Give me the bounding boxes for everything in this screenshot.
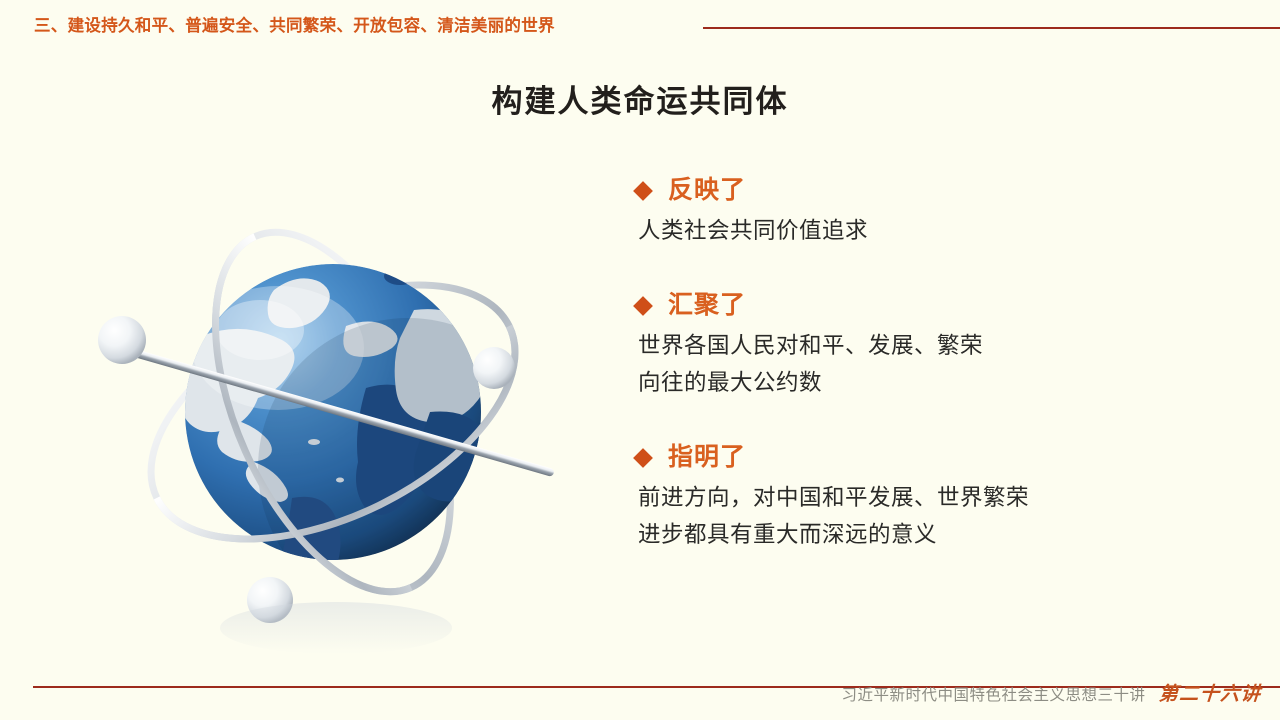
bullet-heading-3: 指明了 bbox=[636, 445, 1236, 470]
bullet-title-1: 反映了 bbox=[668, 178, 746, 203]
header-section-title: 三、建设持久和平、普遍安全、共同繁荣、开放包容、清洁美丽的世界 bbox=[34, 12, 555, 36]
bullet-item-3: 指明了 前进方向，对中国和平发展、世界繁荣 进步都具有重大而深远的意义 bbox=[636, 445, 1236, 553]
diamond-bullet-icon bbox=[633, 296, 653, 316]
bullet-body-2: 世界各国人民对和平、发展、繁荣 向往的最大公约数 bbox=[638, 328, 1236, 401]
page-title: 构建人类命运共同体 bbox=[0, 76, 1280, 121]
slide-root: 三、建设持久和平、普遍安全、共同繁荣、开放包容、清洁美丽的世界 构建人类命运共同… bbox=[0, 0, 1280, 720]
globe-illustration bbox=[78, 150, 618, 670]
bullet-list: 反映了 人类社会共同价值追求 汇聚了 世界各国人民对和平、发展、繁荣 向往的最大… bbox=[636, 178, 1236, 553]
header-divider bbox=[703, 27, 1280, 29]
orbit-node-left bbox=[98, 316, 146, 364]
bullet-line: 进步都具有重大而深远的意义 bbox=[638, 517, 1236, 553]
diamond-bullet-icon bbox=[633, 448, 653, 468]
bullet-line: 世界各国人民对和平、发展、繁荣 bbox=[638, 328, 1236, 364]
bullet-line: 向往的最大公约数 bbox=[638, 365, 1236, 401]
bullet-line: 人类社会共同价值追求 bbox=[638, 213, 1236, 249]
bullet-item-2: 汇聚了 世界各国人民对和平、发展、繁荣 向往的最大公约数 bbox=[636, 293, 1236, 401]
bullet-body-1: 人类社会共同价值追求 bbox=[638, 213, 1236, 249]
bullet-item-1: 反映了 人类社会共同价值追求 bbox=[636, 178, 1236, 249]
orbit-node-right bbox=[473, 347, 515, 389]
globe-graphic bbox=[78, 150, 618, 670]
bullet-heading-2: 汇聚了 bbox=[636, 293, 1236, 318]
footer-lecture-number: 第二十六讲 bbox=[1159, 679, 1263, 706]
bullet-heading-1: 反映了 bbox=[636, 178, 1236, 203]
globe-reflection bbox=[220, 602, 452, 654]
footer-series-title: 习近平新时代中国特色社会主义思想三十讲 bbox=[841, 683, 1145, 705]
slide-header: 三、建设持久和平、普遍安全、共同繁荣、开放包容、清洁美丽的世界 bbox=[0, 0, 1280, 40]
diamond-bullet-icon bbox=[633, 181, 653, 201]
bullet-body-3: 前进方向，对中国和平发展、世界繁荣 进步都具有重大而深远的意义 bbox=[638, 480, 1236, 553]
bullet-title-2: 汇聚了 bbox=[668, 293, 746, 318]
bullet-title-3: 指明了 bbox=[668, 445, 746, 470]
slide-footer: 习近平新时代中国特色社会主义思想三十讲 第二十六讲 bbox=[841, 679, 1262, 706]
bullet-line: 前进方向，对中国和平发展、世界繁荣 bbox=[638, 480, 1236, 516]
